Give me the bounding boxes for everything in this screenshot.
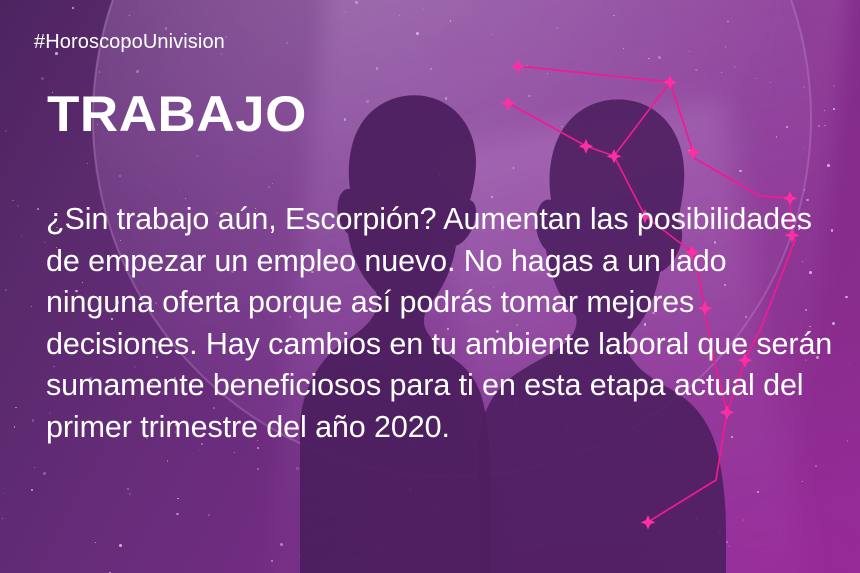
page-title: TRABAJO: [47, 88, 307, 140]
horoscope-card: #HoroscopoUnivision TRABAJO ¿Sin trabajo…: [0, 0, 860, 573]
horoscope-body-text: ¿Sin trabajo aún, Escorpión? Aumentan la…: [46, 199, 836, 448]
hashtag-label: #HoroscopoUnivision: [34, 31, 225, 54]
content-layer: #HoroscopoUnivision TRABAJO ¿Sin trabajo…: [0, 0, 860, 573]
